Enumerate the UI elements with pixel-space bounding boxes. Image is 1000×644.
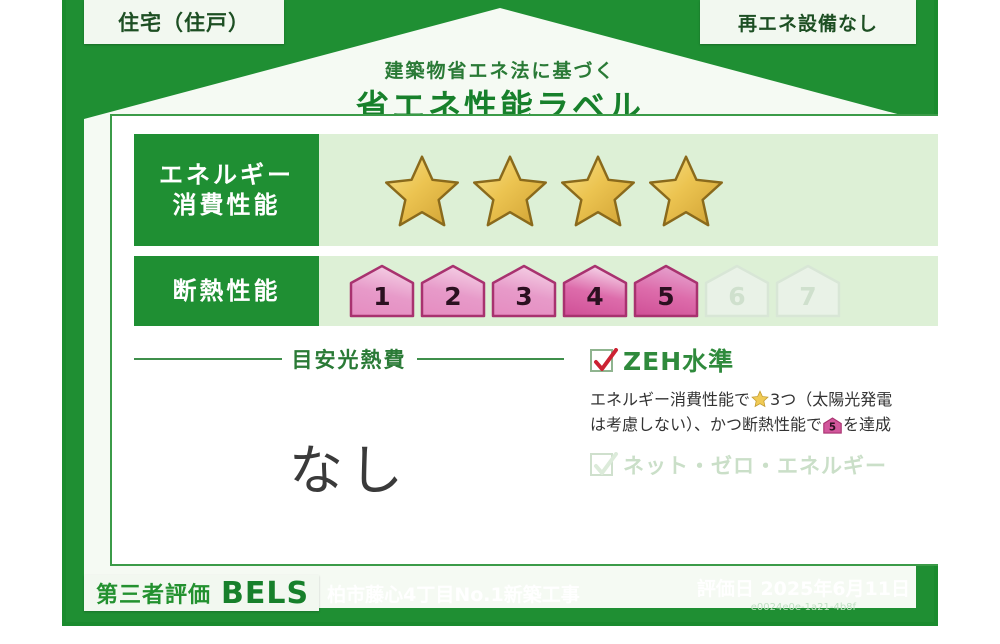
utility-cost-value: なし (134, 426, 564, 505)
insulation-grade-5: 5 (633, 264, 699, 318)
star-icon-filled (385, 153, 459, 227)
insulation-grade-value: 3 (515, 282, 532, 311)
energy-performance-label-line1: エネルギー (159, 160, 294, 190)
zeh-standard-label: ZEH水準 (623, 342, 734, 378)
zeh-standard-row: ZEH水準 (590, 342, 938, 378)
rule-left-divider (134, 358, 282, 360)
energy-performance-value-area (319, 134, 938, 246)
insulation-grade-1: 1 (349, 264, 415, 318)
utility-cost-block: 目安光熱費 なし (134, 344, 564, 505)
building-type-tag: 住宅（住戸） (84, 0, 284, 44)
zeh-description-stars: 3つ（太陽光発電 (770, 390, 892, 409)
utility-cost-title: 目安光熱費 (292, 344, 407, 374)
insulation-grade-6: 6 (704, 264, 770, 318)
evaluation-date-block: 評価日 2025年6月11日 e0024e0e-1a21-4b8f (697, 574, 916, 613)
check-icon (593, 348, 619, 376)
insulation-performance-value-area: 1234567 (319, 256, 938, 326)
renewable-energy-tag: 再エネ設備なし (700, 0, 916, 44)
star-rating (319, 153, 723, 227)
insulation-grade-2: 2 (420, 264, 486, 318)
insulation-grade-value: 4 (586, 282, 603, 311)
insulation-grade-value: 2 (444, 282, 461, 311)
net-zero-energy-row: ネット・ゼロ・エネルギー (590, 450, 938, 480)
zeh-description-part1: エネルギー消費性能で (590, 390, 750, 409)
zeh-standard-checkbox[interactable] (590, 349, 613, 372)
insulation-grade-value: 7 (799, 282, 816, 311)
zeh-description-part3: を達成 (843, 415, 891, 434)
utility-cost-heading: 目安光熱費 (134, 344, 564, 374)
bels-badge-ja: 第三者評価 (96, 577, 211, 609)
label-card: 住宅（住戸） 再エネ設備なし 建築物省エネ法に基づく 省エネ性能ラベル エネルギ… (62, 0, 938, 626)
svg-text:5: 5 (829, 421, 836, 433)
insulation-grade-scale: 1234567 (319, 264, 841, 318)
insulation-performance-row: 断熱性能 1234567 (134, 256, 938, 326)
building-name: 柏市藤心4丁目No.1新築工事 (327, 580, 580, 607)
building-type-tag-label: 住宅（住戸） (118, 7, 250, 37)
rule-right-divider (417, 358, 565, 360)
evaluation-id: e0024e0e-1a21-4b8f (697, 602, 910, 613)
insulation-grade-7: 7 (775, 264, 841, 318)
insulation-performance-label-text: 断熱性能 (173, 276, 281, 306)
star-icon-filled (473, 153, 547, 227)
insulation-grade-value: 5 (657, 282, 674, 311)
net-zero-energy-checkbox[interactable] (590, 453, 613, 476)
star-icon-filled (649, 153, 723, 227)
energy-performance-row: エネルギー 消費性能 (134, 134, 938, 246)
label-subtitle: 建築物省エネ法に基づく (62, 56, 938, 83)
renewable-energy-tag-label: 再エネ設備なし (738, 9, 878, 36)
zeh-description: エネルギー消費性能で3つ（太陽光発電 は考慮しない）、かつ断熱性能で5を達成 (590, 388, 938, 438)
bels-badge: 第三者評価 BELS (84, 575, 319, 611)
mini-star-icon (751, 390, 769, 408)
star-icon-filled (561, 153, 635, 227)
net-zero-energy-label: ネット・ゼロ・エネルギー (623, 450, 887, 480)
check-icon-disabled (593, 452, 619, 480)
energy-performance-label: エネルギー 消費性能 (134, 134, 319, 246)
insulation-grade-4: 4 (562, 264, 628, 318)
insulation-grade-value: 6 (728, 282, 745, 311)
bels-energy-label-screenshot: 住宅（住戸） 再エネ設備なし 建築物省エネ法に基づく 省エネ性能ラベル エネルギ… (0, 0, 1000, 644)
insulation-grade-value: 1 (373, 282, 390, 311)
evaluation-date: 評価日 2025年6月11日 (697, 574, 910, 601)
insulation-grade-3: 3 (491, 264, 557, 318)
bels-badge-en: BELS (221, 576, 309, 611)
footer-bar: 第三者評価 BELS 柏市藤心4丁目No.1新築工事 評価日 2025年6月11… (84, 570, 916, 616)
energy-performance-label-line2: 消費性能 (173, 190, 281, 220)
zeh-description-part2: は考慮しない）、かつ断熱性能で (590, 415, 822, 434)
mini-grade-house-icon: 5 (823, 417, 842, 434)
insulation-performance-label: 断熱性能 (134, 256, 319, 326)
zeh-block: ZEH水準 エネルギー消費性能で3つ（太陽光発電 は考慮しない）、かつ断熱性能で… (590, 342, 938, 480)
main-panel: エネルギー 消費性能 断熱性能 1234567 (110, 114, 938, 566)
